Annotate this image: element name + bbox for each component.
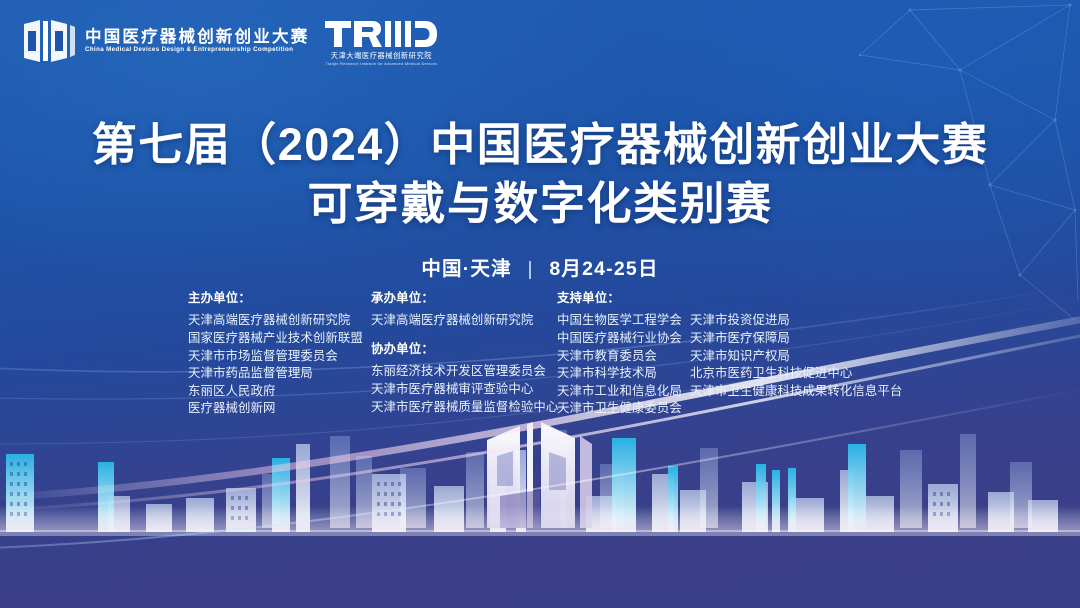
list-item: 国家医疗器械产业技术创新联盟 — [188, 330, 363, 348]
list-item: 天津市投资促进局 — [690, 312, 902, 330]
title-line-2: 可穿戴与数字化类别赛 — [0, 177, 1080, 230]
organizers-column-supporter-continued: 天津市投资促进局 天津市医疗保障局 天津市知识产权局 北京市医药卫生科技促进中心… — [690, 292, 902, 400]
list-item: 天津高端医疗器械创新研究院 — [188, 312, 363, 330]
competition-logo-en: China Medical Devices Design & Entrepren… — [85, 47, 314, 53]
list-item: 天津市工业和信息化局 — [557, 383, 682, 401]
organizers-column-organizer: 承办单位： 天津高端医疗器械创新研究院 协办单位： 东丽经济技术开发区管理委员会… — [371, 292, 558, 416]
list-item: 医疗器械创新网 — [188, 400, 363, 418]
list-item: 天津市市场监督管理委员会 — [188, 348, 363, 366]
competition-logo-cn: 中国医疗器械创新创业大赛 — [85, 29, 309, 46]
trimd-logo-cn: 天津大端医疗器械创新研究院 — [331, 52, 432, 59]
trimd-logo: 天津大端医疗器械创新研究院 Tianjin Research Institute… — [325, 19, 437, 66]
organizers-column-host: 主办单位： 天津高端医疗器械创新研究院 国家医疗器械产业技术创新联盟 天津市市场… — [188, 292, 363, 418]
supporter-heading-spacer — [690, 292, 902, 304]
list-item: 天津市药品监督管理局 — [188, 365, 363, 383]
event-location: 中国·天津 — [421, 258, 512, 280]
list-item: 天津市知识产权局 — [690, 348, 902, 366]
list-item: 天津市卫生健康委员会 — [557, 400, 682, 418]
list-item: 东丽经济技术开发区管理委员会 — [371, 363, 558, 381]
title-block: 第七届（2024）中国医疗器械创新创业大赛 可穿戴与数字化类别赛 中国·天津 |… — [0, 118, 1080, 281]
event-subtitle: 中国·天津 | 8月24-25日 — [0, 252, 1080, 281]
competition-logo: 中国医疗器械创新创业大赛 China Medical Devices Desig… — [22, 18, 309, 64]
organizer-heading: 承办单位： — [371, 292, 558, 304]
list-item: 天津市医疗器械审评查验中心 — [371, 381, 558, 399]
host-heading: 主办单位： — [188, 292, 363, 304]
list-item: 中国医疗器械行业协会 — [557, 330, 682, 348]
event-poster: 中国医疗器械创新创业大赛 China Medical Devices Desig… — [0, 0, 1080, 608]
list-item: 天津市科学技术局 — [557, 365, 682, 383]
trimd-logo-en: Tianjin Research Institute for Advanced … — [326, 62, 438, 66]
organizers-block: 主办单位： 天津高端医疗器械创新研究院 国家医疗器械产业技术创新联盟 天津市市场… — [0, 292, 1080, 432]
open-door-mark-icon — [22, 18, 76, 64]
title-line-1: 第七届（2024）中国医疗器械创新创业大赛 — [0, 118, 1080, 171]
list-item: 天津市医疗器械质量监督检验中心 — [371, 399, 558, 417]
logo-bar: 中国医疗器械创新创业大赛 China Medical Devices Desig… — [22, 18, 437, 66]
central-monument — [487, 422, 592, 528]
co-organizer-heading: 协办单位： — [371, 343, 558, 355]
supporter-heading: 支持单位： — [557, 292, 682, 304]
subtitle-divider: | — [527, 258, 533, 281]
list-item: 天津市医疗保障局 — [690, 330, 902, 348]
trimd-wordmark-icon — [325, 19, 437, 49]
event-date: 8月24-25日 — [549, 258, 658, 280]
list-item: 天津市卫生健康科技成果转化信息平台 — [690, 383, 902, 401]
list-item: 天津高端医疗器械创新研究院 — [371, 312, 558, 330]
organizers-column-supporter: 支持单位： 中国生物医学工程学会 中国医疗器械行业协会 天津市教育委员会 天津市… — [557, 292, 682, 418]
list-item: 东丽区人民政府 — [188, 383, 363, 401]
list-item: 中国生物医学工程学会 — [557, 312, 682, 330]
list-item: 天津市教育委员会 — [557, 348, 682, 366]
list-item: 北京市医药卫生科技促进中心 — [690, 365, 902, 383]
